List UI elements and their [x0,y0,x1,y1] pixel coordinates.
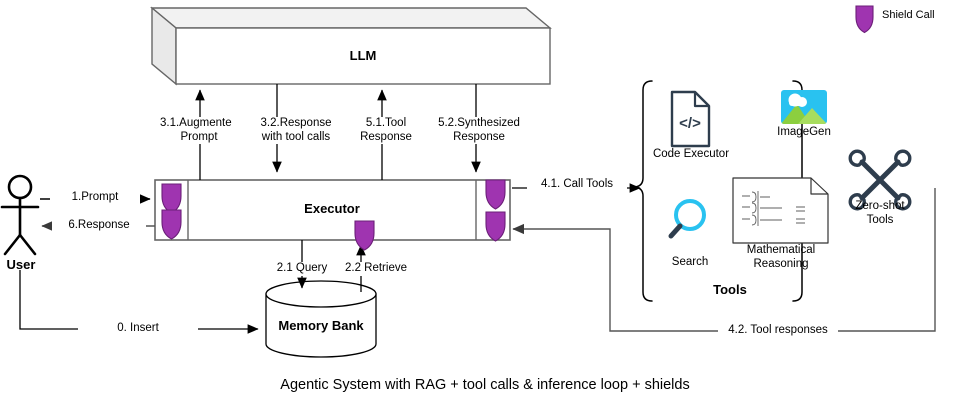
edge-label-synthesized-response: 5.2.Synthesized Response [420,117,538,144]
edge-label-call-tools: 4.1. Call Tools [527,178,627,192]
edge-insert [20,270,258,329]
legend-shield-call-label: Shield Call [882,9,935,21]
tool-label-zero-shot-tools: Zero-shot Tools [840,200,920,227]
edge-label-retrieve: 2.2 Retrieve [331,262,421,276]
image-photo-icon [781,90,827,124]
magnifier-icon [671,201,704,236]
memory-bank-label: Memory Bank [266,318,376,333]
tool-label-mathematical-reasoning: Mathematical Reasoning [731,244,831,271]
user-actor [2,176,38,254]
shield-icon-memory [355,221,374,250]
llm-node [152,8,550,84]
tools-group-label: Tools [690,282,770,297]
executor-label: Executor [188,201,476,216]
edge-label-insert: 0. Insert [78,322,198,336]
svg-text:</>: </> [679,115,701,132]
user-label: User [0,257,42,272]
diagram-caption: Agentic System with RAG + tool calls & i… [0,377,970,393]
tool-label-imagegen: ImageGen [764,126,844,140]
llm-label: LLM [176,48,550,63]
tool-label-search: Search [655,256,725,270]
edge-label-response: 6.Response [52,219,146,233]
shield-icon-legend [856,6,873,33]
edge-label-tool-responses: 4.2. Tool responses [718,324,838,338]
edge-label-prompt: 1.Prompt [50,191,140,205]
tool-label-code-executor: Code Executor [645,148,737,162]
diagram-canvas: </> [0,0,970,411]
formula-document-icon [733,178,828,243]
code-document-icon: </> [672,92,709,146]
edge-label-query: 2.1 Query [262,262,342,276]
